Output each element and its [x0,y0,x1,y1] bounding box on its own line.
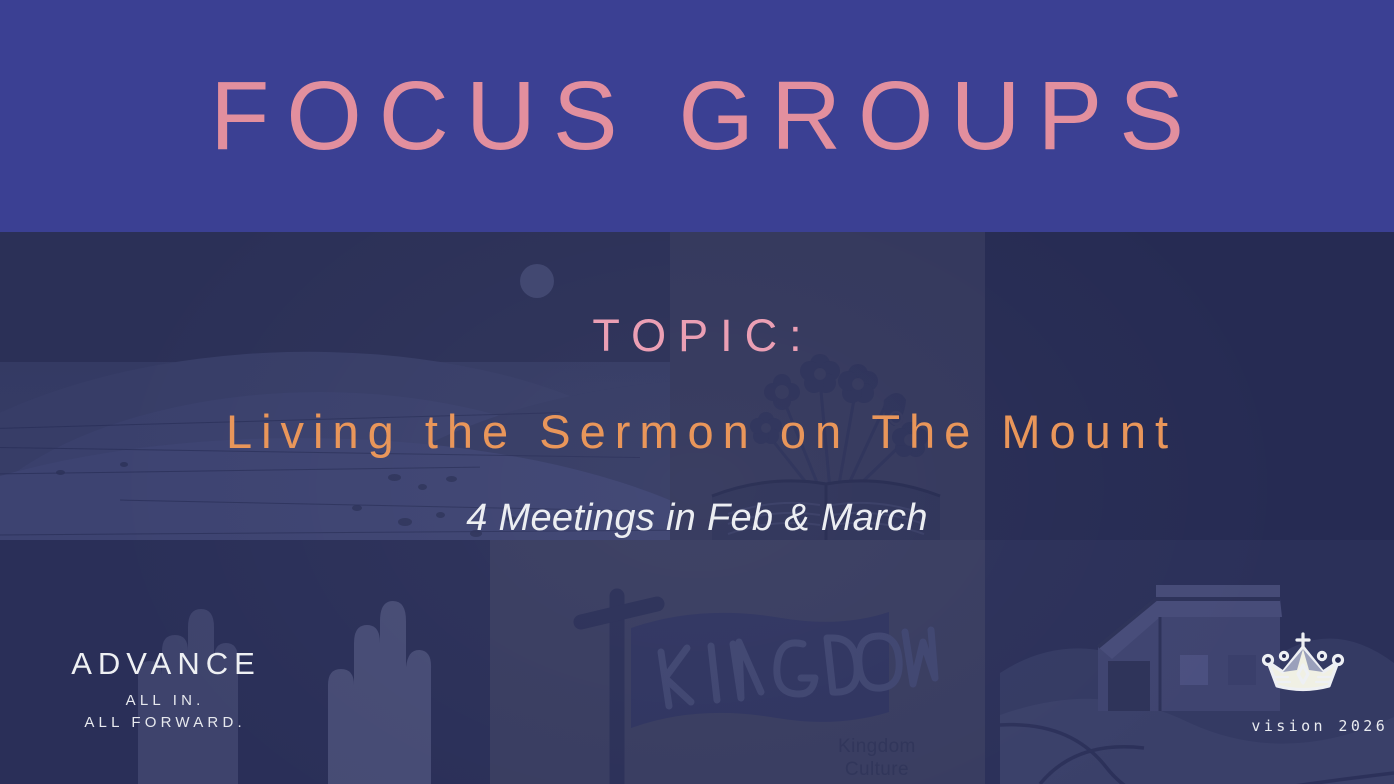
kingdom-culture-caption: Kingdom Culture [838,735,916,781]
slide-canvas: Kingdom Culture [0,0,1394,784]
advance-wordmark: ADVANCE [58,648,268,679]
crown-icon [1257,630,1349,700]
vision-badge: vision 2026 [1248,630,1358,735]
vision-label: vision 2026 [1248,717,1358,735]
topic-label: TOPIC: [580,310,813,362]
advance-logo: ADVANCE ALL IN. ALL FORWARD. [58,648,268,734]
advance-tagline-line1: ALL IN. [58,690,268,712]
advance-tagline: ALL IN. ALL FORWARD. [58,690,268,734]
kingdom-culture-line1: Kingdom [838,735,916,758]
kingdom-culture-line2: Culture [838,758,916,781]
advance-tagline-line2: ALL FORWARD. [58,712,268,734]
topic-title: Living the Sermon on The Mount [217,404,1177,459]
main-text-stack: TOPIC: Living the Sermon on The Mount 4 … [0,232,1394,540]
meetings-subtitle: 4 Meetings in Feb & March [466,497,928,540]
page-title: FOCUS GROUPS [0,0,1394,232]
